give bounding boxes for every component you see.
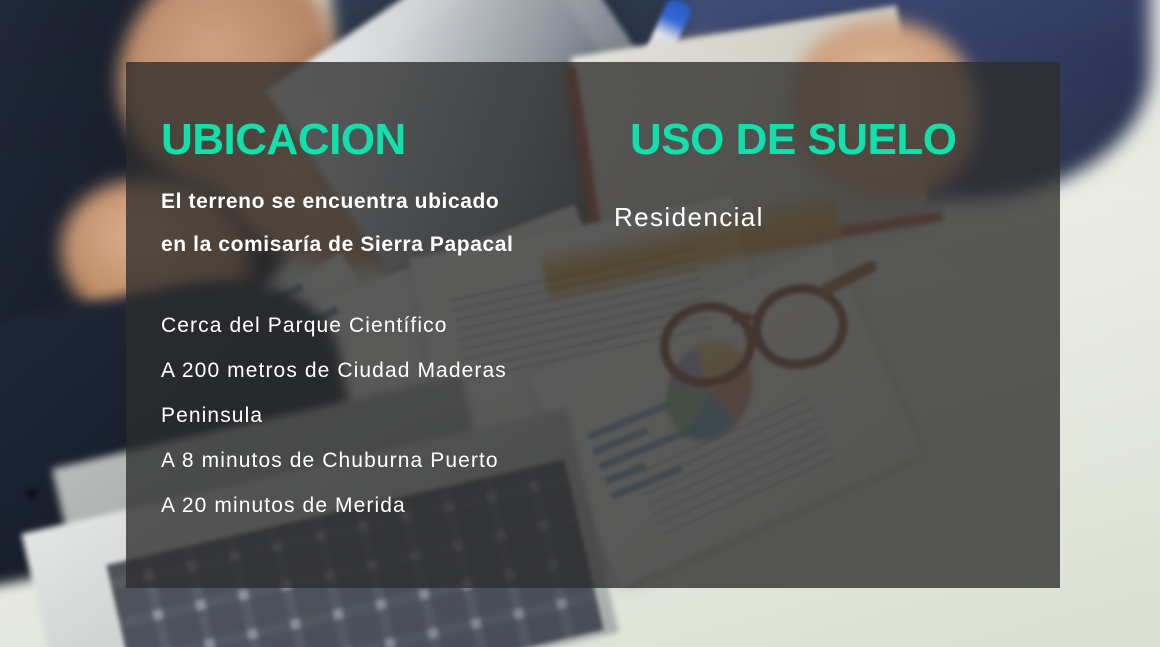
ubicacion-subtitle-line-2: en la comisaría de Sierra Papacal [161,223,514,266]
uso-de-suelo-value: Residencial [614,204,764,230]
list-item: A 20 minutos de Merida [161,483,507,528]
list-item: Cerca del Parque Científico [161,303,507,348]
slide: UBICACION El terreno se encuentra ubicad… [0,0,1160,647]
list-item: A 8 minutos de Chuburna Puerto [161,438,507,483]
ubicacion-subtitle-line-1: El terreno se encuentra ubicado [161,180,499,223]
ubicacion-feature-list: Cerca del Parque Científico A 200 metros… [161,303,507,528]
list-item: A 200 metros de Ciudad Maderas [161,348,507,393]
slide-content: UBICACION El terreno se encuentra ubicad… [126,62,1060,588]
uso-de-suelo-heading: USO DE SUELO [630,118,957,162]
ubicacion-heading: UBICACION [161,118,406,162]
list-item: Peninsula [161,393,507,438]
